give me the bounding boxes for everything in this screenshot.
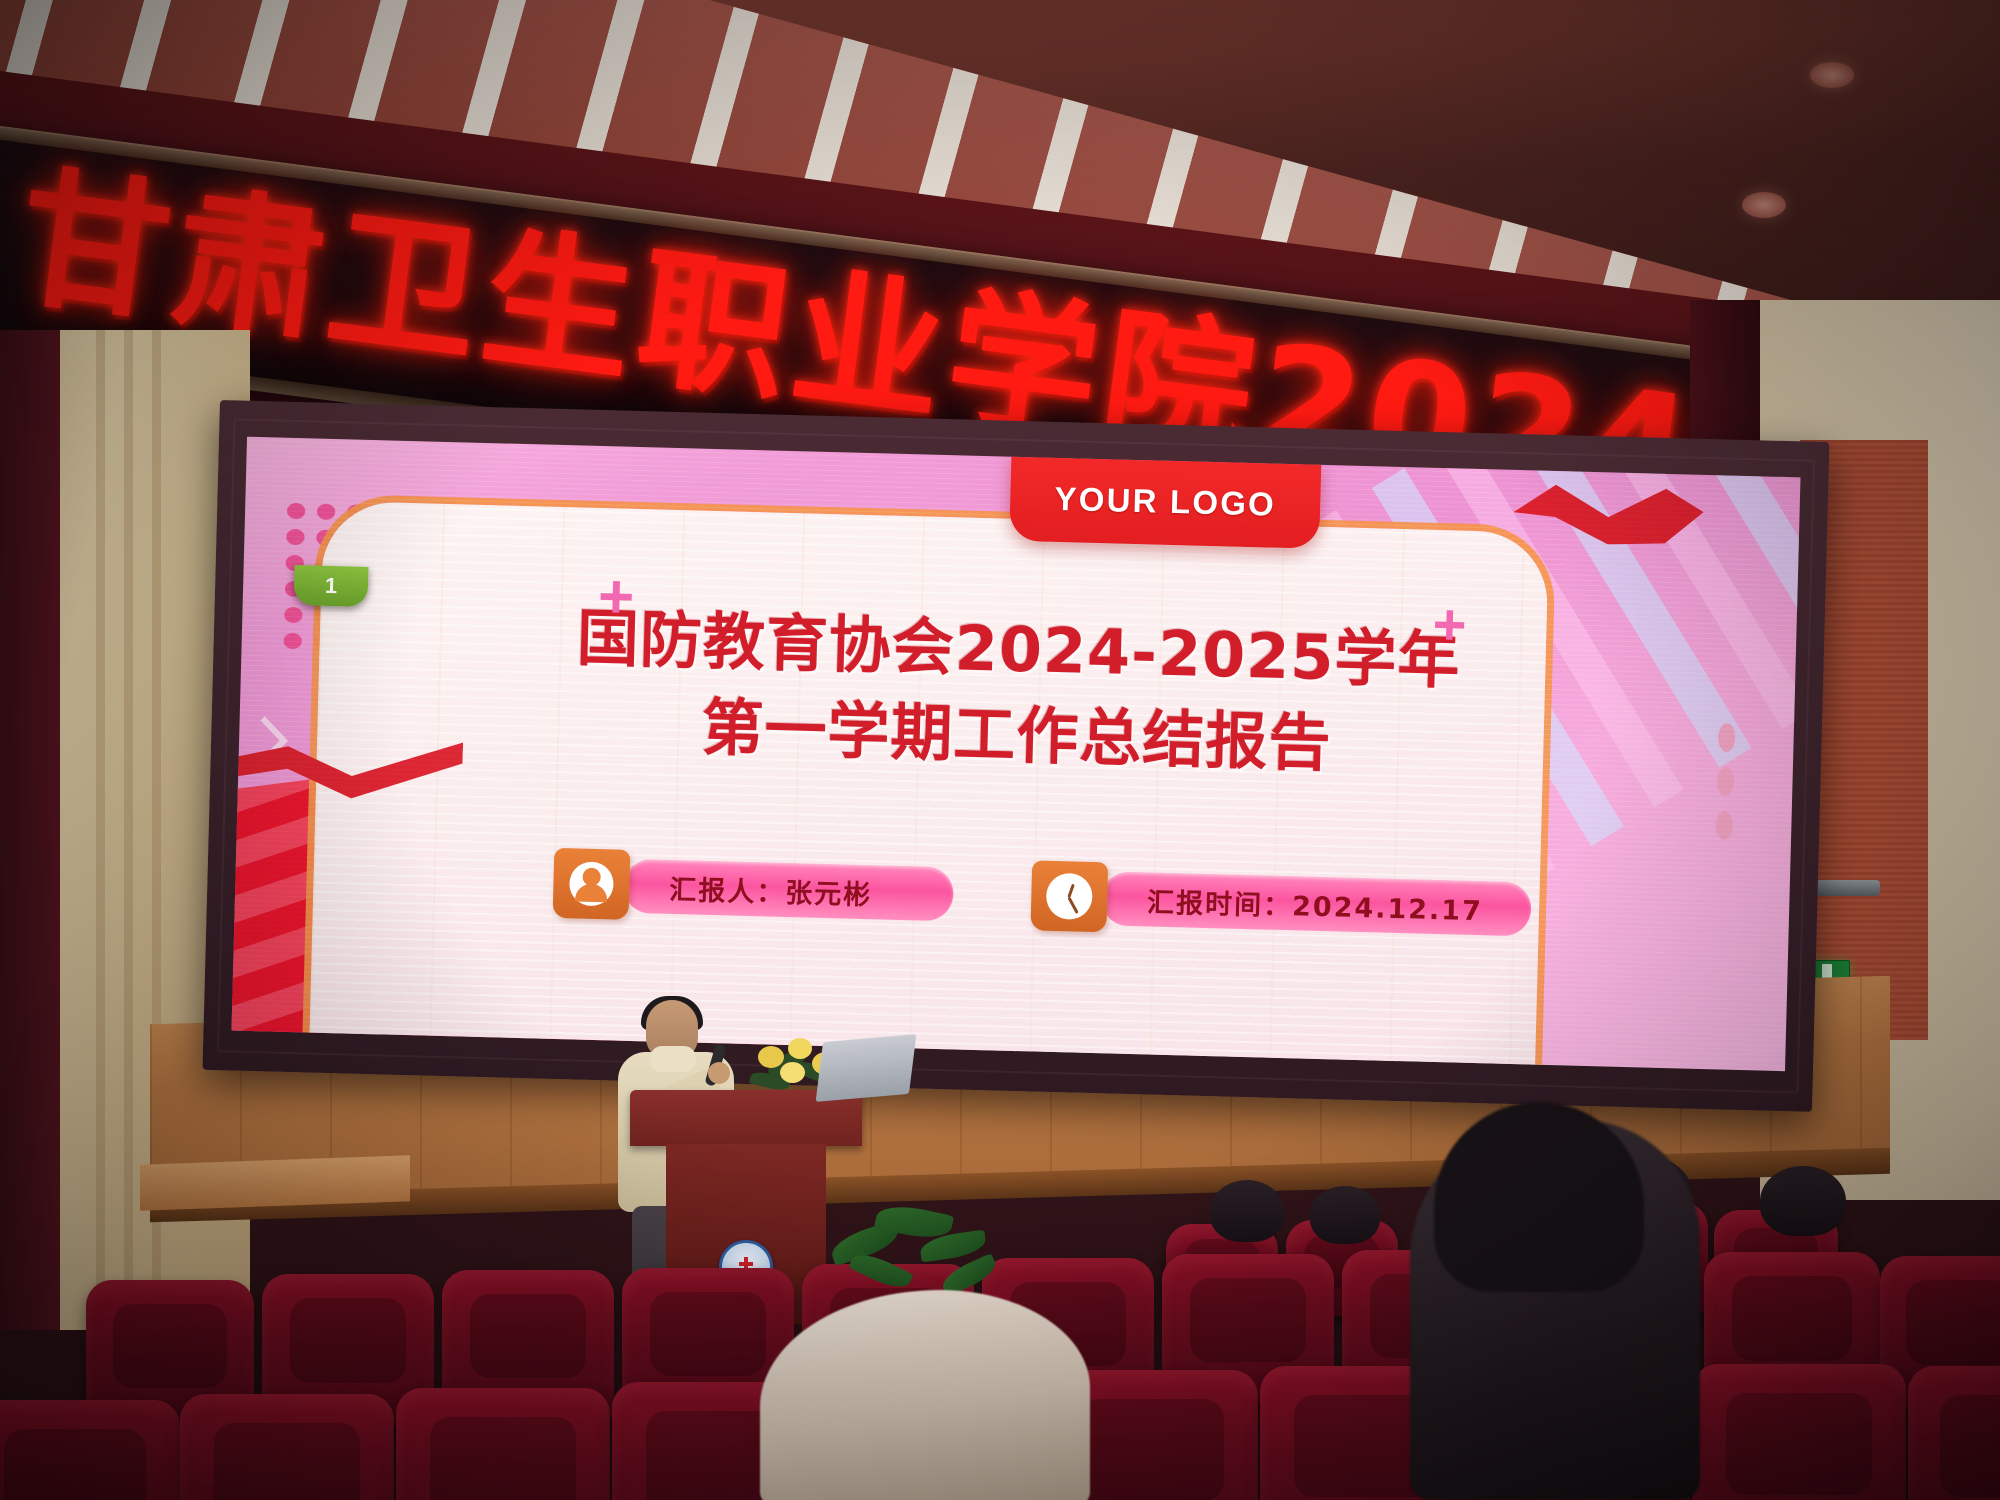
page-indicator-label: 1 (325, 573, 338, 599)
seat (1908, 1366, 2000, 1500)
auditorium-photo: 甘肃卫生职业学院2024年学生社团工作总结 YOUR LO (0, 0, 2000, 1500)
seat (0, 1400, 180, 1500)
ceiling-downlight (1810, 62, 1854, 88)
plus-decoration-icon: + (597, 566, 635, 629)
plus-decoration-icon: + (1432, 596, 1467, 655)
presentation-slide[interactable]: YOUR LOGO + + 国防教育协会2024-2025学年 第一学期工作总结… (231, 437, 1800, 1071)
clock-icon (1030, 860, 1108, 932)
door-handle[interactable] (1810, 880, 1880, 896)
laptop-screen (816, 1034, 917, 1102)
time-bar: 汇报时间：2024.12.17 (1101, 871, 1532, 936)
time-label: 汇报时间：2024.12.17 (1147, 880, 1484, 928)
your-logo-badge[interactable]: YOUR LOGO (1009, 455, 1321, 549)
foreground-person-hair (1434, 1102, 1644, 1292)
projection-screen-frame: YOUR LOGO + + 国防教育协会2024-2025学年 第一学期工作总结… (202, 400, 1829, 1112)
audience-head (1760, 1166, 1846, 1236)
presenter-collar (650, 1046, 696, 1072)
audience-head (1210, 1180, 1284, 1242)
presenter-label: 汇报人：张元彬 (669, 867, 873, 911)
seat (180, 1394, 394, 1500)
logo-badge-label: YOUR LOGO (1054, 480, 1276, 524)
presenter-bar: 汇报人：张元彬 (623, 859, 954, 922)
seat (396, 1388, 610, 1500)
presenter-chip: 汇报人：张元彬 (553, 857, 954, 921)
seat (1692, 1364, 1906, 1500)
foreground-audience-person (1410, 1120, 1700, 1500)
laptop (820, 1038, 912, 1098)
audience-head (1310, 1186, 1380, 1244)
presenter-avatar-icon (553, 848, 631, 920)
ceiling-downlight (1742, 192, 1786, 218)
presenter-hand (708, 1062, 730, 1084)
page-indicator-tab[interactable]: 1 (293, 565, 368, 607)
